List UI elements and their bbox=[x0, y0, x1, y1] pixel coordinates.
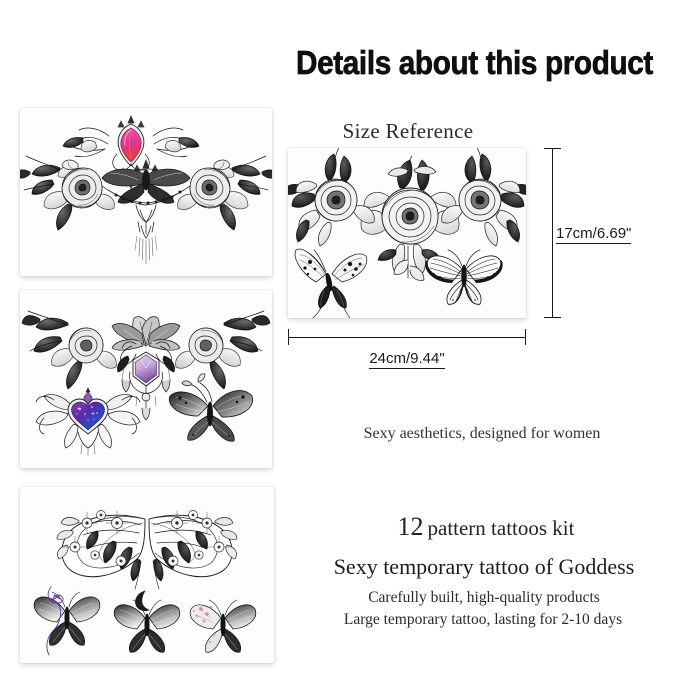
kit-count-line: 12 pattern tattoos kit bbox=[300, 512, 672, 542]
tattoo-sheet-card-2[interactable] bbox=[20, 290, 272, 468]
tattoo-sheet-card-1[interactable] bbox=[20, 108, 272, 276]
kit-count-text: pattern tattoos kit bbox=[428, 516, 575, 540]
dimension-cap-right bbox=[525, 329, 526, 345]
height-dimension-label: 17cm/6.69" bbox=[556, 225, 631, 244]
tattoo-sheet-card-3[interactable] bbox=[20, 487, 274, 663]
sheet-gem-sternum-floral-artwork bbox=[20, 108, 272, 276]
tagline-text: Sexy aesthetics, designed for women bbox=[294, 425, 670, 443]
feature-bullet-2: Large temporary tattoo, lasting for 2-10… bbox=[292, 611, 674, 629]
width-dimension-line bbox=[288, 329, 526, 345]
dimension-stem-horizontal bbox=[288, 337, 526, 338]
size-reference-card[interactable] bbox=[288, 148, 526, 318]
width-dimension-label: 24cm/9.44" bbox=[369, 350, 444, 369]
size-reference-heading: Size Reference bbox=[288, 119, 528, 143]
dimension-cap-bottom bbox=[544, 317, 561, 318]
sheet-floral-wings-butterflies-artwork bbox=[20, 487, 274, 663]
page-title: Details about this product bbox=[296, 44, 620, 82]
sheet-amethyst-heart-butterfly-artwork bbox=[20, 290, 272, 468]
product-headline: Sexy temporary tattoo of Goddess bbox=[296, 554, 672, 580]
size-reference-artwork bbox=[288, 148, 526, 318]
kit-count-number: 12 bbox=[398, 512, 424, 541]
feature-bullet-1: Carefully built, high-quality products bbox=[296, 589, 672, 607]
product-detail-page: Details about this product bbox=[0, 0, 679, 679]
dimension-stem-vertical bbox=[552, 148, 553, 318]
width-dimension-label-wrap: 24cm/9.44" bbox=[288, 350, 526, 367]
